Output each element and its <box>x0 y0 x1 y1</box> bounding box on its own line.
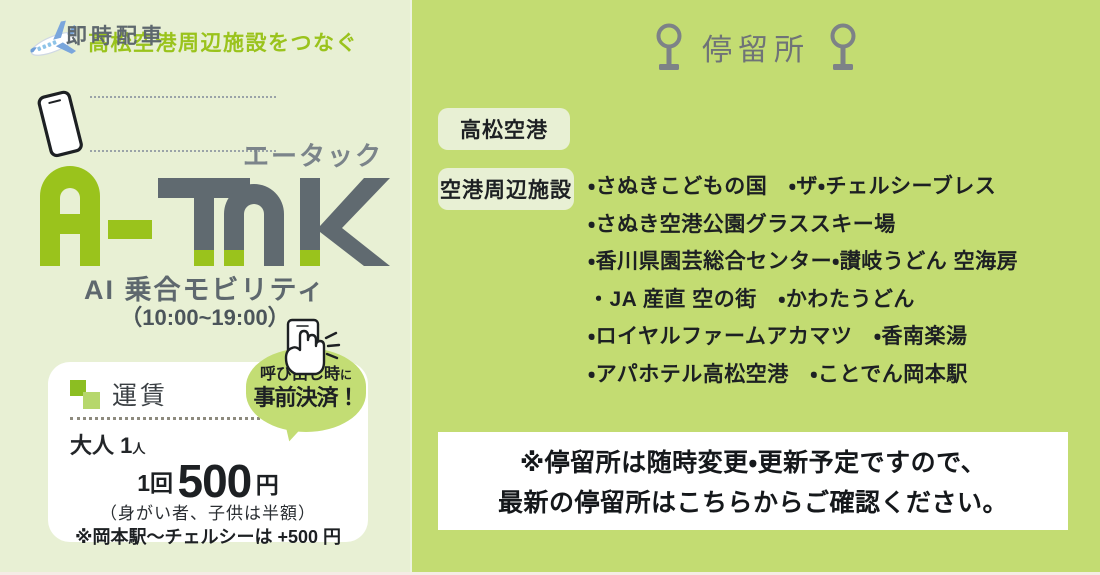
bubble-line-2: 事前決済！ <box>246 380 366 412</box>
facility-line: ・香川県園芸総合センター・讃岐うどん 空海房 <box>588 243 1088 281</box>
badge-takamatsu-airport: 高松空港 <box>438 108 570 150</box>
badge-airport-area-facilities: 空港周辺施設 <box>438 168 574 210</box>
facility-list: ・さぬきこどもの国 ・ザ・チェルシーブレス ・さぬき空港公園グラススキー場 ・香… <box>588 168 1088 393</box>
facility-line: ・ロイヤルファームアカマツ ・香南楽湯 <box>588 318 1088 356</box>
facility-line: ・さぬき空港公園グラススキー場 <box>588 206 1088 244</box>
bus-stop-sign-icon <box>826 22 860 72</box>
service-hours: （10:00~19:00） <box>0 300 410 332</box>
left-panel: 高松空港周辺施設をつなぐ 即時配車 エータック <box>0 0 410 572</box>
dotted-line-top <box>90 96 276 98</box>
a-tak-logo <box>34 160 394 270</box>
fare-card-header: 運賃 <box>70 376 168 412</box>
bus-stop-header: 停留所 <box>412 22 1100 72</box>
notice-line: 最新の停留所はこちらからご確認ください。 <box>498 483 1008 519</box>
a-tak-logo-mark <box>34 160 394 270</box>
fare-discount-note: （身がい者、子供は半額） <box>48 499 368 524</box>
green-squares-icon <box>70 379 100 409</box>
bus-stop-sign-icon <box>652 22 686 72</box>
instant-dispatch-label: 即時配車 <box>66 20 166 50</box>
fare-title: 運賃 <box>112 376 168 412</box>
notice-line: ※停留所は随時変更・更新予定ですので、 <box>520 443 986 479</box>
speech-bubble-tail <box>279 414 310 444</box>
facility-line: ・JA 産直 空の街 ・かわたうどん <box>588 281 1088 319</box>
facility-line: ・アパホテル高松空港 ・ことでん岡本駅 <box>588 356 1088 394</box>
hand-holding-phone-icon <box>272 318 344 384</box>
facility-line: ・さぬきこどもの国 ・ザ・チェルシーブレス <box>588 168 1088 206</box>
fare-currency: 円 <box>256 472 279 498</box>
fare-once-label: 1回 <box>137 470 173 496</box>
notice-box: ※停留所は随時変更・更新予定ですので、 最新の停留所はこちらからご確認ください。 <box>438 432 1068 530</box>
bus-stop-title: 停留所 <box>702 25 810 69</box>
poster-root: 高松空港周辺施設をつなぐ 即時配車 エータック <box>0 0 1100 575</box>
fare-surcharge-note: ※岡本駅〜チェルシーは +500 円 <box>48 523 368 549</box>
smartphone-icon <box>30 90 90 160</box>
